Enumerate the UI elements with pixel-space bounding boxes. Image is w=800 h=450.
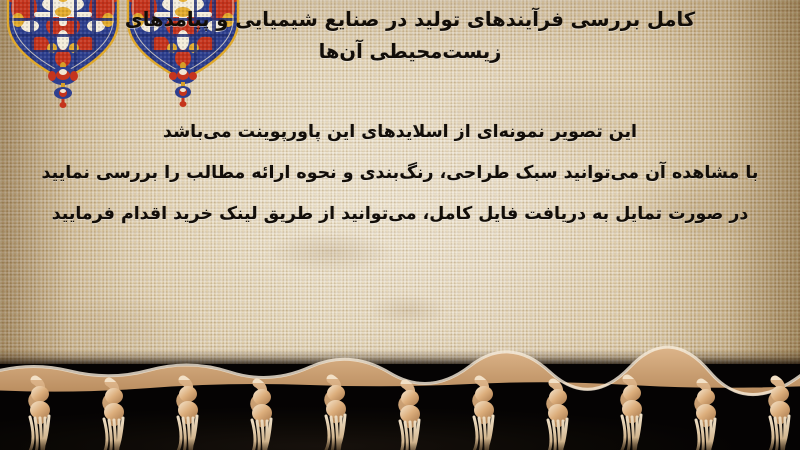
fringe-header-cord xyxy=(0,348,800,395)
title-line-2: زیست‌محیطی آن‌ها xyxy=(30,36,790,68)
body-line-3: در صورت تمایل به دریافت فایل کامل، می‌تو… xyxy=(20,194,780,235)
tassel-group xyxy=(30,379,790,450)
body-line-2: با مشاهده آن می‌توانید سبک طراحی، رنگ‌بن… xyxy=(20,153,780,194)
slide-title: کامل بررسی فرآیندهای تولید در صنایع شیمی… xyxy=(30,4,790,68)
slide-body: این تصویر نمونه‌ای از اسلایدهای این پاور… xyxy=(20,112,780,235)
title-line-1: کامل بررسی فرآیندهای تولید در صنایع شیمی… xyxy=(30,4,790,36)
body-line-1: این تصویر نمونه‌ای از اسلایدهای این پاور… xyxy=(20,112,780,153)
slide-canvas: کامل بررسی فرآیندهای تولید در صنایع شیمی… xyxy=(0,0,800,450)
knotted-tassel-fringe-icon xyxy=(0,340,800,450)
